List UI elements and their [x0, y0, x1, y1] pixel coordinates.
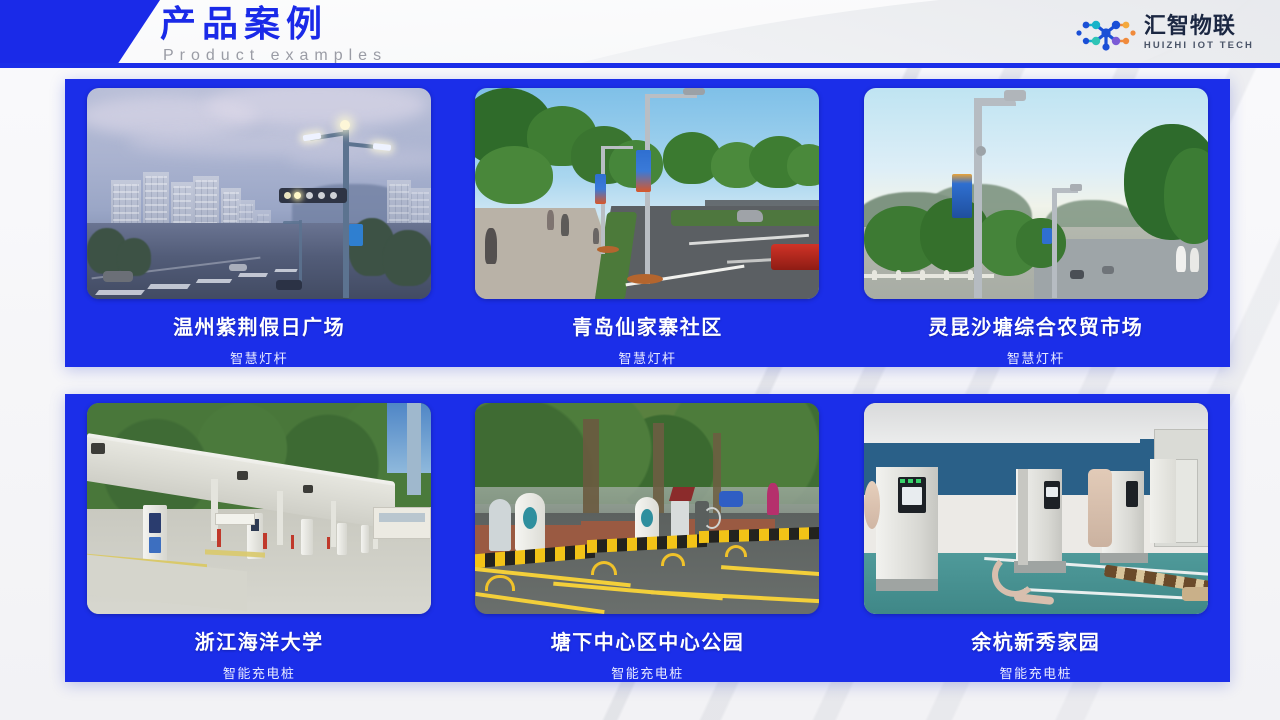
molecule-network-icon [1075, 13, 1137, 53]
page-title: 产品案例 [160, 2, 760, 46]
case-title: 温州紫荆假日广场 [173, 311, 345, 340]
case-card[interactable]: 青岛仙家寨社区 智慧灯杆 [453, 79, 841, 367]
logo-text: 汇智物联 HUIZHI IOT TECH [1144, 15, 1254, 51]
logo-name-en: HUIZHI IOT TECH [1144, 41, 1254, 51]
logo-name-cn: 汇智物联 [1144, 15, 1254, 37]
case-subtitle: 智能充电桩 [611, 663, 684, 682]
ev-charging-panel: 浙江海洋大学 智能充电桩 [65, 394, 1230, 682]
case-card[interactable]: 余杭新秀家园 智能充电桩 [842, 394, 1230, 682]
slide-root: 产品案例 Product examples [0, 0, 1280, 720]
case-title: 灵昆沙塘综合农贸市场 [928, 311, 1143, 340]
case-card[interactable]: 浙江海洋大学 智能充电桩 [65, 394, 453, 682]
case-title: 塘下中心区中心公园 [551, 626, 745, 655]
smart-lamp-pole-panel: 温州紫荆假日广场 智慧灯杆 [65, 79, 1230, 367]
case-subtitle: 智慧灯杆 [1007, 348, 1065, 367]
header-bottom-rule [0, 63, 1280, 68]
case-subtitle: 智能充电桩 [223, 663, 296, 682]
header-title-block: 产品案例 Product examples [160, 2, 760, 65]
case-title: 青岛仙家寨社区 [572, 311, 723, 340]
case-title: 余杭新秀家园 [971, 626, 1100, 655]
case-thumbnail-green-boulevard-smart-pole-render [475, 88, 819, 299]
case-subtitle: 智慧灯杆 [618, 348, 676, 367]
case-card[interactable]: 灵昆沙塘综合农贸市场 智慧灯杆 [842, 79, 1230, 367]
case-thumbnail-dusk-city-street-smart-pole [87, 88, 431, 299]
case-thumbnail-outdoor-parking-charging-piles [475, 403, 819, 614]
case-subtitle: 智慧灯杆 [230, 348, 288, 367]
case-title: 浙江海洋大学 [195, 626, 324, 655]
case-subtitle: 智能充电桩 [1000, 663, 1073, 682]
slide-header: 产品案例 Product examples [0, 0, 1280, 68]
case-card[interactable]: 温州紫荆假日广场 智慧灯杆 [65, 79, 453, 367]
case-thumbnail-charging-station-canopy [87, 403, 431, 614]
case-thumbnail-indoor-garage-charging-cabinets [864, 403, 1208, 614]
case-thumbnail-mountain-road-smart-pole [864, 88, 1208, 299]
case-card[interactable]: 塘下中心区中心公园 智能充电桩 [453, 394, 841, 682]
brand-logo: 汇智物联 HUIZHI IOT TECH [1075, 13, 1254, 53]
